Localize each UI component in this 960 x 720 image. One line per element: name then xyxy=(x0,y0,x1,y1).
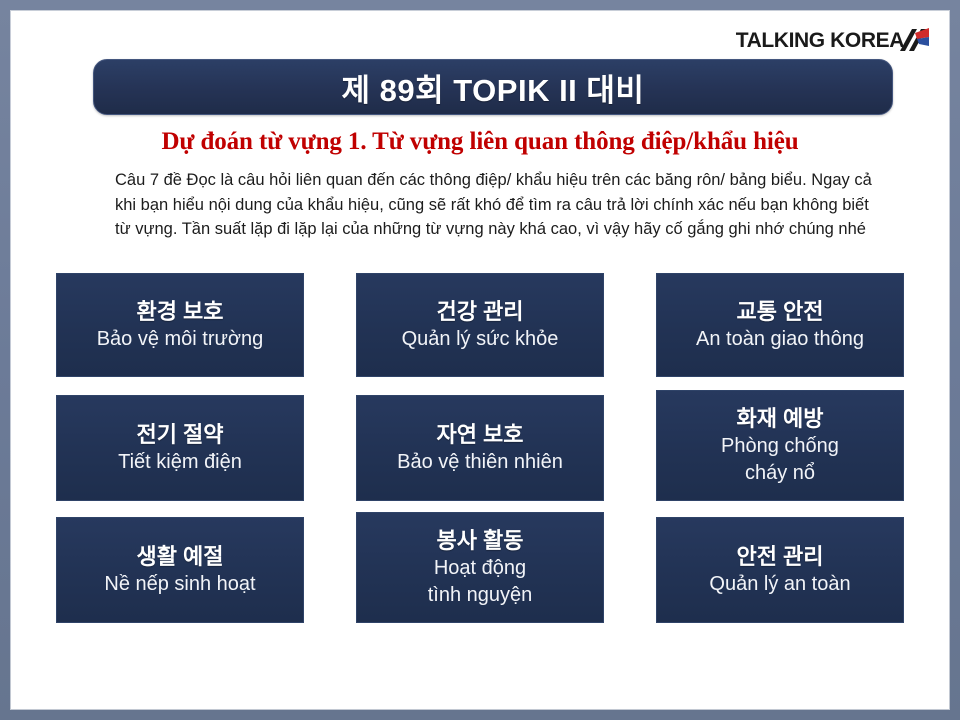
vocabulary-card[interactable]: 자연 보호Bảo vệ thiên nhiên xyxy=(356,395,604,501)
vocabulary-card[interactable]: 생활 예절Nề nếp sinh hoạt xyxy=(56,517,304,623)
vocabulary-card[interactable]: 교통 안전An toàn giao thông xyxy=(656,273,904,377)
body-paragraph: Câu 7 đề Đọc là câu hỏi liên quan đến cá… xyxy=(115,168,875,242)
vocabulary-card-grid: 환경 보호Bảo vệ môi trường건강 관리Quản lý sức k… xyxy=(11,11,949,709)
slide-root: TALKING KOREA 제 89회 TOPIK II 대비 Dự đoán … xyxy=(0,0,960,720)
page-title: 제 89회 TOPIK II 대비 xyxy=(342,65,645,110)
card-vietnamese-gloss: Bảo vệ thiên nhiên xyxy=(397,449,563,476)
card-vietnamese-gloss: Quản lý sức khỏe xyxy=(402,326,559,353)
vocabulary-card[interactable]: 환경 보호Bảo vệ môi trường xyxy=(56,273,304,377)
card-vietnamese-gloss: Phòng chống cháy nổ xyxy=(721,433,839,487)
talking-korea-logo: TALKING KOREA xyxy=(736,25,929,55)
card-korean-term: 건강 관리 xyxy=(436,297,523,326)
card-korean-term: 안전 관리 xyxy=(736,542,823,571)
logo-wordmark: TALKING KOREA xyxy=(736,30,904,51)
card-korean-term: 전기 절약 xyxy=(136,420,223,449)
slide-subtitle: Dự đoán từ vựng 1. Từ vựng liên quan thô… xyxy=(11,128,949,156)
korea-arrow-mark-icon xyxy=(899,27,929,53)
card-korean-term: 자연 보호 xyxy=(436,420,523,449)
vocabulary-card[interactable]: 전기 절약Tiết kiệm điện xyxy=(56,395,304,501)
card-vietnamese-gloss: An toàn giao thông xyxy=(696,326,864,353)
card-korean-term: 화재 예방 xyxy=(736,404,823,433)
card-vietnamese-gloss: Quản lý an toàn xyxy=(709,571,850,598)
vocabulary-card[interactable]: 봉사 활동Hoạt động tình nguyện xyxy=(356,512,604,623)
vocabulary-card[interactable]: 안전 관리Quản lý an toàn xyxy=(656,517,904,623)
slide-title-banner: 제 89회 TOPIK II 대비 xyxy=(93,59,893,115)
card-korean-term: 봉사 활동 xyxy=(436,526,523,555)
card-vietnamese-gloss: Nề nếp sinh hoạt xyxy=(104,571,255,598)
card-vietnamese-gloss: Bảo vệ môi trường xyxy=(97,326,264,353)
card-korean-term: 생활 예절 xyxy=(136,542,223,571)
vocabulary-card[interactable]: 건강 관리Quản lý sức khỏe xyxy=(356,273,604,377)
card-korean-term: 교통 안전 xyxy=(736,297,823,326)
card-vietnamese-gloss: Hoạt động tình nguyện xyxy=(428,555,533,609)
card-vietnamese-gloss: Tiết kiệm điện xyxy=(118,449,242,476)
slide-canvas: TALKING KOREA 제 89회 TOPIK II 대비 Dự đoán … xyxy=(11,11,949,709)
card-korean-term: 환경 보호 xyxy=(136,297,223,326)
vocabulary-card[interactable]: 화재 예방Phòng chống cháy nổ xyxy=(656,390,904,501)
